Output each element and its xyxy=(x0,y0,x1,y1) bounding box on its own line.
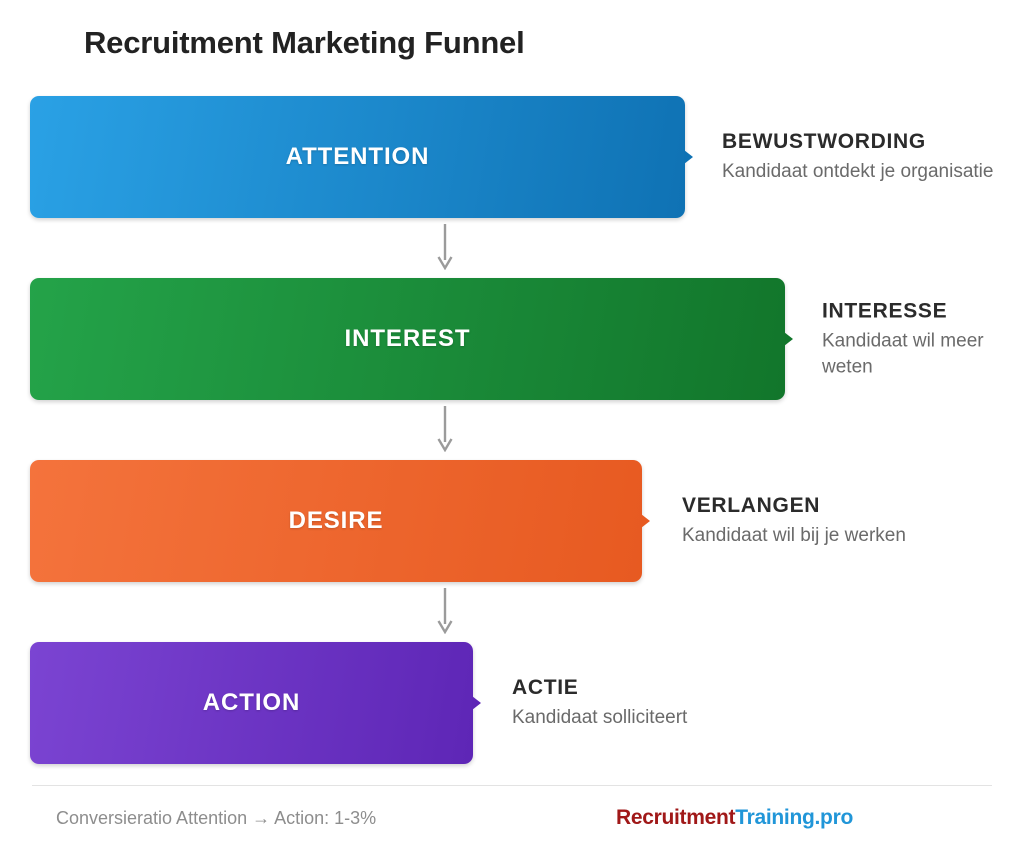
stage-description-subtitle: Kandidaat ontdekt je organisatie xyxy=(722,159,993,185)
funnel-bar-label: DESIRE xyxy=(289,507,384,535)
stage-row-interest: INTEREST INTERESSE Kandidaat wil meer we… xyxy=(0,278,1024,400)
funnel-bar-action[interactable]: ACTION xyxy=(30,642,473,764)
stage-description-subtitle: Kandidaat solliciteert xyxy=(512,705,687,731)
connector-nub-icon xyxy=(684,150,693,164)
down-arrow-icon-2 xyxy=(437,406,453,452)
stage-row-desire: DESIRE VERLANGEN Kandidaat wil bij je we… xyxy=(0,460,1024,582)
brand-logo-part1: Recruitment xyxy=(616,806,735,829)
footer-divider xyxy=(32,785,992,786)
brand-logo[interactable]: RecruitmentTraining.pro xyxy=(616,806,853,830)
stage-row-attention: ATTENTION BEWUSTWORDING Kandidaat ontdek… xyxy=(0,96,1024,218)
funnel-bar-interest[interactable]: INTEREST xyxy=(30,278,785,400)
connector-nub-icon xyxy=(641,514,650,528)
stage-description-attention: BEWUSTWORDING Kandidaat ontdekt je organ… xyxy=(722,129,993,185)
stage-description-title: INTERESSE xyxy=(822,298,1024,325)
stage-description-title: BEWUSTWORDING xyxy=(722,129,993,156)
stage-description-title: VERLANGEN xyxy=(682,493,906,520)
funnel-bar-label: ACTION xyxy=(203,689,300,717)
funnel-bar-attention[interactable]: ATTENTION xyxy=(30,96,685,218)
down-arrow-icon-1 xyxy=(437,224,453,270)
funnel-bar-label: ATTENTION xyxy=(286,143,430,171)
down-arrow-icon-3 xyxy=(437,588,453,634)
funnel-stages: ATTENTION BEWUSTWORDING Kandidaat ontdek… xyxy=(0,96,1024,764)
stage-description-action: ACTIE Kandidaat solliciteert xyxy=(512,675,687,731)
stage-description-title: ACTIE xyxy=(512,675,687,702)
conversion-ratio-note: Conversieratio Attention → Action: 1-3% xyxy=(56,808,376,829)
stage-description-subtitle: Kandidaat wil meer weten xyxy=(822,328,1024,379)
stage-description-subtitle: Kandidaat wil bij je werken xyxy=(682,523,906,549)
connector-nub-icon xyxy=(472,696,481,710)
brand-logo-part2: Training.pro xyxy=(735,806,853,829)
funnel-infographic: Recruitment Marketing Funnel ATTENTION B… xyxy=(0,0,1024,863)
connector-nub-icon xyxy=(784,332,793,346)
stage-row-action: ACTION ACTIE Kandidaat solliciteert xyxy=(0,642,1024,764)
stage-description-desire: VERLANGEN Kandidaat wil bij je werken xyxy=(682,493,906,549)
page-title: Recruitment Marketing Funnel xyxy=(84,25,525,61)
funnel-bar-label: INTEREST xyxy=(345,325,471,353)
funnel-bar-desire[interactable]: DESIRE xyxy=(30,460,642,582)
stage-description-interest: INTERESSE Kandidaat wil meer weten xyxy=(822,298,1024,379)
